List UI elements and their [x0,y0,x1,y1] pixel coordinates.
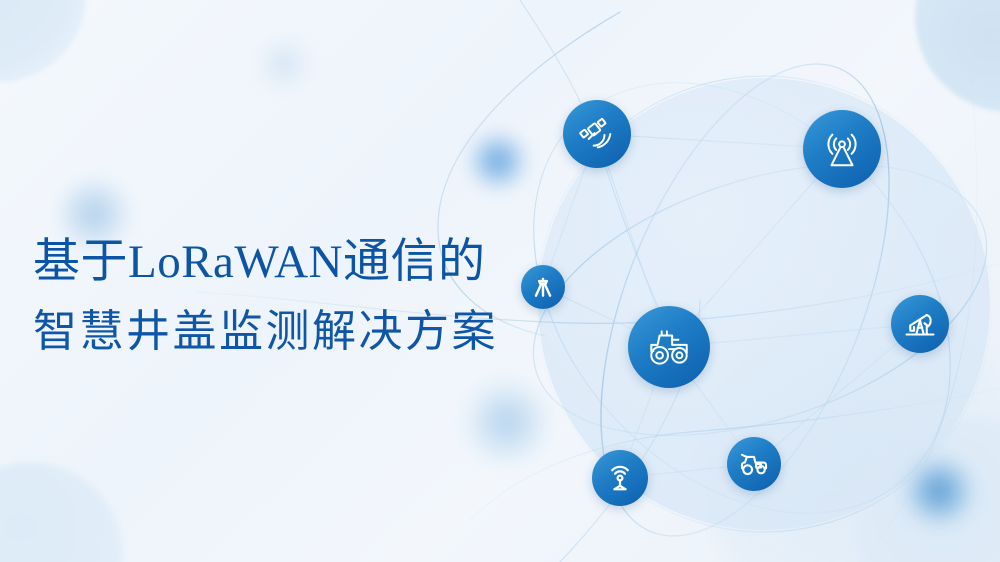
decor-wash-mid-right [700,300,1000,562]
node-tractor[interactable] [628,306,710,388]
satellite-dish-icon [577,114,617,154]
decor-dot-center-lower [463,378,551,466]
title-slide: 基于LoRaWAN通信的 智慧井盖监测解决方案 [0,0,1000,562]
decor-circle-top-left [0,0,86,82]
decor-circle-top-right [915,0,1000,112]
node-radio-tower[interactable] [803,110,881,188]
decor-dot-top-left [255,35,313,93]
radio-tower-icon [819,126,865,172]
decor-dot-bottom-right [903,455,975,527]
decor-circle-bottom-left [0,462,123,562]
node-wireless-sensor[interactable] [592,450,648,506]
decor-circle-bottom-right [855,418,1000,562]
decor-dot-center-top [467,130,529,192]
title-block: 基于LoRaWAN通信的 智慧井盖监测解决方案 [33,228,593,368]
node-oil-pumpjack[interactable] [891,295,949,353]
title-line-1: 基于LoRaWAN通信的 [33,228,593,296]
title-line-2: 智慧井盖监测解决方案 [33,296,593,368]
tractor-icon [644,322,694,372]
wireless-sensor-icon [603,461,637,495]
oil-pumpjack-icon [902,306,938,342]
node-harvester[interactable] [727,437,781,491]
harvester-vehicle-icon [737,447,771,481]
node-satellite[interactable] [563,100,631,168]
